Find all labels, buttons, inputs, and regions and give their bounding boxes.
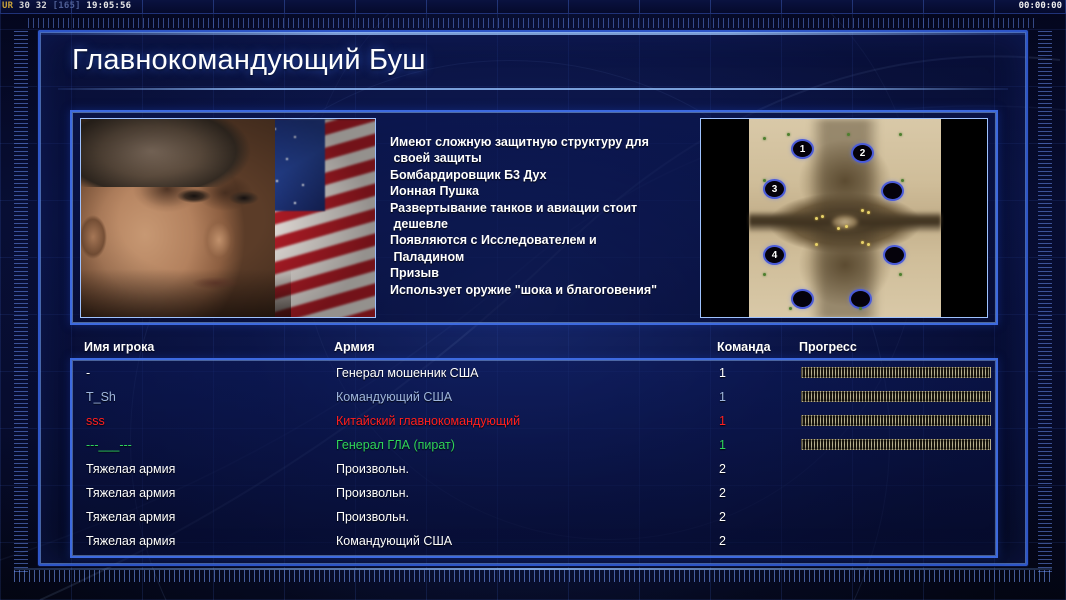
- minimap-start-2: 2: [853, 145, 872, 161]
- cell-player-name: Тяжелая армия: [86, 486, 175, 500]
- minimap-prop: [787, 133, 790, 136]
- minimap-start-1: 1: [793, 141, 812, 157]
- table-row[interactable]: T_ShКомандующий США1: [72, 386, 996, 410]
- minimap-prop: [901, 179, 904, 182]
- minimap-prop: [859, 307, 862, 310]
- minimap-resource: [837, 227, 840, 230]
- frame-top-accent: [40, 32, 1026, 35]
- table-row[interactable]: ---___---Генерал ГЛА (пират)1: [72, 434, 996, 458]
- minimap-prop: [763, 179, 766, 182]
- table-row[interactable]: Тяжелая армияПроизвольн.2: [72, 458, 996, 482]
- general-description-list: Имеют сложную защитную структуру для сво…: [390, 134, 702, 298]
- description-line: дешевле: [390, 216, 702, 232]
- minimap-resource: [845, 225, 848, 228]
- cell-player-name: -: [86, 366, 90, 380]
- description-line: Появляются с Исследователем и: [390, 232, 702, 248]
- description-line: Паладином: [390, 249, 702, 265]
- progress-bar: [801, 391, 991, 402]
- description-line: своей защиты: [390, 150, 702, 166]
- table-row[interactable]: sssКитайский главнокомандующий1: [72, 410, 996, 434]
- minimap-river: [749, 211, 941, 233]
- minimap-terrain: 1 2 3 4: [749, 119, 941, 318]
- description-line: Бомбардировщик Б3 Дух: [390, 167, 702, 183]
- progress-bar: [801, 415, 991, 426]
- cell-team: 1: [719, 390, 726, 404]
- ruler-left: [14, 28, 28, 572]
- description-line: Развертывание танков и авиации стоит: [390, 200, 702, 216]
- ruler-bottom: [14, 570, 1052, 582]
- system-prefix: UR: [2, 1, 13, 11]
- minimap-resource: [867, 243, 870, 246]
- minimap-resource: [815, 243, 818, 246]
- minimap: 1 2 3 4: [700, 118, 988, 318]
- minimap-prop: [763, 137, 766, 140]
- cell-team: 1: [719, 438, 726, 452]
- cell-player-name: T_Sh: [86, 390, 116, 404]
- progress-bar: [801, 367, 991, 378]
- minimap-start-3: 3: [765, 181, 784, 197]
- table-row[interactable]: Тяжелая армияПроизвольн.2: [72, 482, 996, 506]
- system-status-bar: UR 30 32 [165] 19:05:56 00:00:00: [0, 0, 1066, 14]
- minimap-start-empty-a: [883, 183, 902, 199]
- cell-army: Командующий США: [336, 390, 452, 404]
- minimap-resource: [815, 217, 818, 220]
- cell-player-name: sss: [86, 414, 105, 428]
- topbar-tick-pattern: [0, 0, 1066, 13]
- minimap-prop: [847, 133, 850, 136]
- cell-player-name: Тяжелая армия: [86, 462, 175, 476]
- cell-player-name: Тяжелая армия: [86, 510, 175, 524]
- cell-army: Произвольн.: [336, 462, 409, 476]
- minimap-prop: [899, 273, 902, 276]
- title-underline: [58, 88, 1008, 90]
- cell-player-name: ---___---: [86, 438, 132, 452]
- cell-team: 2: [719, 534, 726, 548]
- description-line: Имеют сложную защитную структуру для: [390, 134, 702, 150]
- header-player-name: Имя игрока: [84, 340, 154, 354]
- cell-team: 2: [719, 462, 726, 476]
- minimap-resource: [867, 211, 870, 214]
- cell-army: Произвольн.: [336, 486, 409, 500]
- cell-army: Командующий США: [336, 534, 452, 548]
- table-row[interactable]: -Генерал мошенник США1: [72, 362, 996, 386]
- system-timestamp: 19:05:56: [86, 1, 131, 11]
- general-portrait: [80, 118, 376, 318]
- minimap-prop: [789, 307, 792, 310]
- minimap-resource: [861, 209, 864, 212]
- minimap-start-4: 4: [765, 247, 784, 263]
- table-row[interactable]: Тяжелая армияКомандующий США2: [72, 530, 996, 554]
- ruler-top: [28, 18, 1038, 28]
- header-team: Команда: [717, 340, 771, 354]
- cell-army: Генерал ГЛА (пират): [336, 438, 455, 452]
- portrait-vignette: [81, 119, 375, 317]
- cell-team: 1: [719, 366, 726, 380]
- minimap-start-empty-c: [793, 291, 812, 307]
- system-number-2: 32: [36, 1, 47, 11]
- minimap-resource: [821, 215, 824, 218]
- description-line: Призыв: [390, 265, 702, 281]
- header-army: Армия: [334, 340, 375, 354]
- system-info-text: UR 30 32 [165] 19:05:56: [2, 1, 131, 11]
- cell-army: Китайский главнокомандующий: [336, 414, 520, 428]
- cell-team: 1: [719, 414, 726, 428]
- table-row[interactable]: Тяжелая армияПроизвольн.2: [72, 506, 996, 530]
- cell-team: 2: [719, 486, 726, 500]
- header-progress: Прогресс: [799, 340, 857, 354]
- progress-bar: [801, 439, 991, 450]
- player-table-header: Имя игрока Армия Команда Прогресс: [84, 340, 1004, 358]
- minimap-prop: [763, 273, 766, 276]
- minimap-start-empty-d: [851, 291, 870, 307]
- briefing-panel: Имеют сложную защитную структуру для сво…: [70, 110, 998, 325]
- system-bracket-value: [165]: [53, 1, 81, 11]
- description-line: Ионная Пушка: [390, 183, 702, 199]
- bottom-rule-line: [14, 568, 1052, 570]
- minimap-start-empty-b: [885, 247, 904, 263]
- cell-army: Произвольн.: [336, 510, 409, 524]
- system-number-1: 30: [19, 1, 30, 11]
- ruler-right: [1038, 28, 1052, 572]
- elapsed-clock: 00:00:00: [1019, 1, 1062, 11]
- cell-army: Генерал мошенник США: [336, 366, 479, 380]
- portrait-photo: [81, 119, 375, 317]
- description-line: Использует оружие "шока и благоговения": [390, 282, 702, 298]
- cell-team: 2: [719, 510, 726, 524]
- cell-player-name: Тяжелая армия: [86, 534, 175, 548]
- player-table: -Генерал мошенник США1T_ShКомандующий СШ…: [70, 358, 998, 558]
- page-title: Главнокомандующий Буш: [72, 44, 972, 82]
- minimap-prop: [899, 133, 902, 136]
- minimap-resource: [861, 241, 864, 244]
